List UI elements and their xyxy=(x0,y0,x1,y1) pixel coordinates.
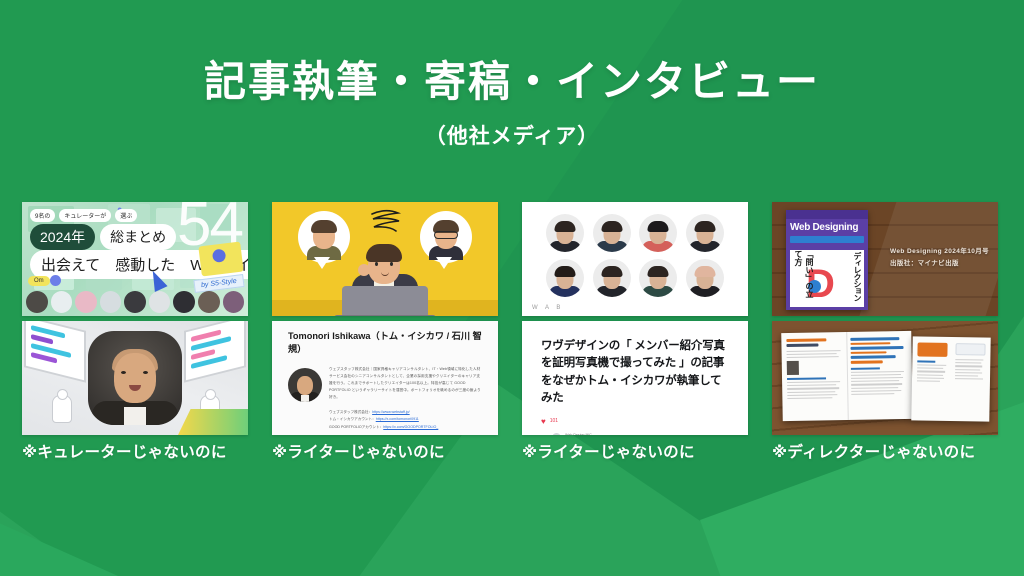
caption-writer-2: ※ライターじゃないのに xyxy=(522,440,748,462)
member-avatar xyxy=(546,259,584,297)
spread2-highlight-box xyxy=(917,342,947,357)
pill-summary: 総まとめ xyxy=(100,224,176,250)
more-icon[interactable]: ⋯ xyxy=(541,434,548,435)
profile-bio: ウェブスタッフ株式会社｜国家資格キャリアコンサルタント、IT・Web領域に特化し… xyxy=(329,366,482,402)
slide-subtitle: （他社メディア） xyxy=(0,120,1024,150)
profile-avatar xyxy=(288,368,322,402)
member-avatar xyxy=(639,259,677,297)
magazine-meta-line-1: Web Designing 2024年10月号 xyxy=(890,246,989,258)
profile-links: ウェブスタッフ株式会社：https://www.webstaff.jp/ トム・… xyxy=(329,409,482,432)
magazine-cover-art: D ディレクション 「問い」の立て方 xyxy=(790,250,864,307)
profile-link-row: トム・イシカワアカウント：https://x.com/tomonori0911 xyxy=(329,416,482,424)
om-dot-icon xyxy=(50,275,61,286)
member-avatar xyxy=(639,214,677,252)
spread-page-right xyxy=(850,337,907,415)
heart-icon: ♥ xyxy=(541,417,546,426)
caption-writer-1: ※ライターじゃないのに xyxy=(272,440,498,462)
thumbnail-magazine-spread[interactable] xyxy=(772,321,998,435)
member-avatar xyxy=(686,259,724,297)
pill-year: 2024年 xyxy=(30,224,95,250)
speech-bubble-left xyxy=(298,211,350,263)
laptop-icon xyxy=(342,286,428,316)
eyebrow-1: 9名の xyxy=(30,209,55,222)
author-avatar xyxy=(552,433,561,435)
eyebrow-2: キュレーターが xyxy=(59,209,111,222)
member-avatar xyxy=(546,214,584,252)
scribble-icon xyxy=(368,208,402,236)
profile-link-url[interactable]: https://x.com/GOODPORTFOLIO_ xyxy=(383,425,438,429)
slide-title: 記事執筆・寄稿・インタビュー xyxy=(0,56,1024,109)
magazine-cover-headline: ディレクション xyxy=(853,252,861,301)
avatar-strip xyxy=(26,291,244,313)
spread-page-left xyxy=(786,338,843,416)
magazine-spread-2 xyxy=(911,336,990,421)
thumbnail-grid: 54 ● 9名の キュレーターが 選ぶ 2024年 総まとめ 出会えて 感動した… xyxy=(22,202,1002,435)
spread-chart xyxy=(850,337,906,364)
profile-link-label: トム・イシカワアカウント： xyxy=(329,417,376,421)
caption-row: ※キュレーターじゃないのに ※ライターじゃないのに ※ライターじゃないのに ※デ… xyxy=(22,440,1002,462)
profile-link-row: GOOD PORTFOLIOアカウント：https://x.com/GOODPO… xyxy=(329,424,482,432)
thumbnail-isometric-portrait[interactable] xyxy=(22,321,248,435)
thumbnail-yellow-illustration[interactable] xyxy=(272,202,498,316)
om-tag: Om xyxy=(28,276,50,286)
magazine-cover: Web Designing D ディレクション 「問い」の立て方 xyxy=(786,210,868,310)
member-grid xyxy=(522,202,748,316)
caption-curator: ※キュレーターじゃないのに xyxy=(22,440,248,462)
member-avatar xyxy=(686,214,724,252)
iso-figure-left xyxy=(50,389,74,429)
headline-row-1: 2024年 総まとめ xyxy=(30,224,176,250)
profile-link-row: ウェブスタッフ株式会社：https://www.webstaff.jp/ xyxy=(329,409,482,417)
article-author: Web Design INC. xyxy=(565,433,593,435)
article-headline: ワヴデザインの「 メンバー紹介写真を証明写真機で撮ってみた 」の記事をなぜかトム… xyxy=(541,338,729,408)
profile-link-label: GOOD PORTFOLIOアカウント： xyxy=(329,425,383,429)
spread2-page-right xyxy=(954,343,985,417)
thumbnail-member-photos[interactable]: W A B xyxy=(522,202,748,316)
portrait-photo xyxy=(88,331,182,425)
thumbnail-curator-list[interactable]: 54 ● 9名の キュレーターが 選ぶ 2024年 総まとめ 出会えて 感動した… xyxy=(22,202,248,316)
magazine-meta: Web Designing 2024年10月号 出版社：マイナビ出版 xyxy=(890,246,989,271)
eyebrow-row: 9名の キュレーターが 選ぶ xyxy=(30,209,137,222)
thumbnail-note-article[interactable]: ワヴデザインの「 メンバー紹介写真を証明写真機で撮ってみた 」の記事をなぜかトム… xyxy=(522,321,748,435)
member-avatar xyxy=(593,214,631,252)
magazine-spread-1 xyxy=(781,331,913,421)
glasses-icon xyxy=(434,231,458,239)
profile-link-label: ウェブスタッフ株式会社： xyxy=(329,410,372,414)
magazine-meta-line-2: 出版社：マイナビ出版 xyxy=(890,258,989,270)
article-byline: ⋯ Web Design INC. 2024年11月30日 05:29 フォロー… xyxy=(541,432,729,435)
slide-title-block: 記事執筆・寄稿・インタビュー （他社メディア） xyxy=(0,56,1024,150)
thumbnail-profile-page[interactable]: Tomonori Ishikawa（トム・イシカワ / 石川 智規） ウェブスタ… xyxy=(272,321,498,435)
speech-bubble-right xyxy=(420,211,472,263)
magazine-title: Web Designing xyxy=(786,219,868,233)
like-count: 101 xyxy=(550,418,558,424)
thumbnail-magazine-cover[interactable]: Web Designing D ディレクション 「問い」の立て方 Web Des… xyxy=(772,202,998,316)
spread2-page-left xyxy=(916,342,947,416)
member-grid-footer-label: W A B xyxy=(532,305,563,311)
profile-link-url[interactable]: https://www.webstaff.jp/ xyxy=(372,410,410,414)
badge-avatar-icon xyxy=(212,248,226,262)
member-avatar xyxy=(593,259,631,297)
like-row[interactable]: ♥ 101 xyxy=(541,417,729,426)
magazine-cover-subhead: 「問い」の立て方 xyxy=(793,250,815,305)
spread-photo xyxy=(787,361,799,375)
spread2-info-box xyxy=(955,343,985,356)
eyebrow-3: 選ぶ xyxy=(115,209,137,222)
profile-link-url[interactable]: https://x.com/tomonori0911 xyxy=(376,417,419,421)
profile-name: Tomonori Ishikawa（トム・イシカワ / 石川 智規） xyxy=(288,330,482,357)
profile-badge xyxy=(198,242,243,277)
caption-director: ※ディレクターじゃないのに xyxy=(772,440,998,462)
